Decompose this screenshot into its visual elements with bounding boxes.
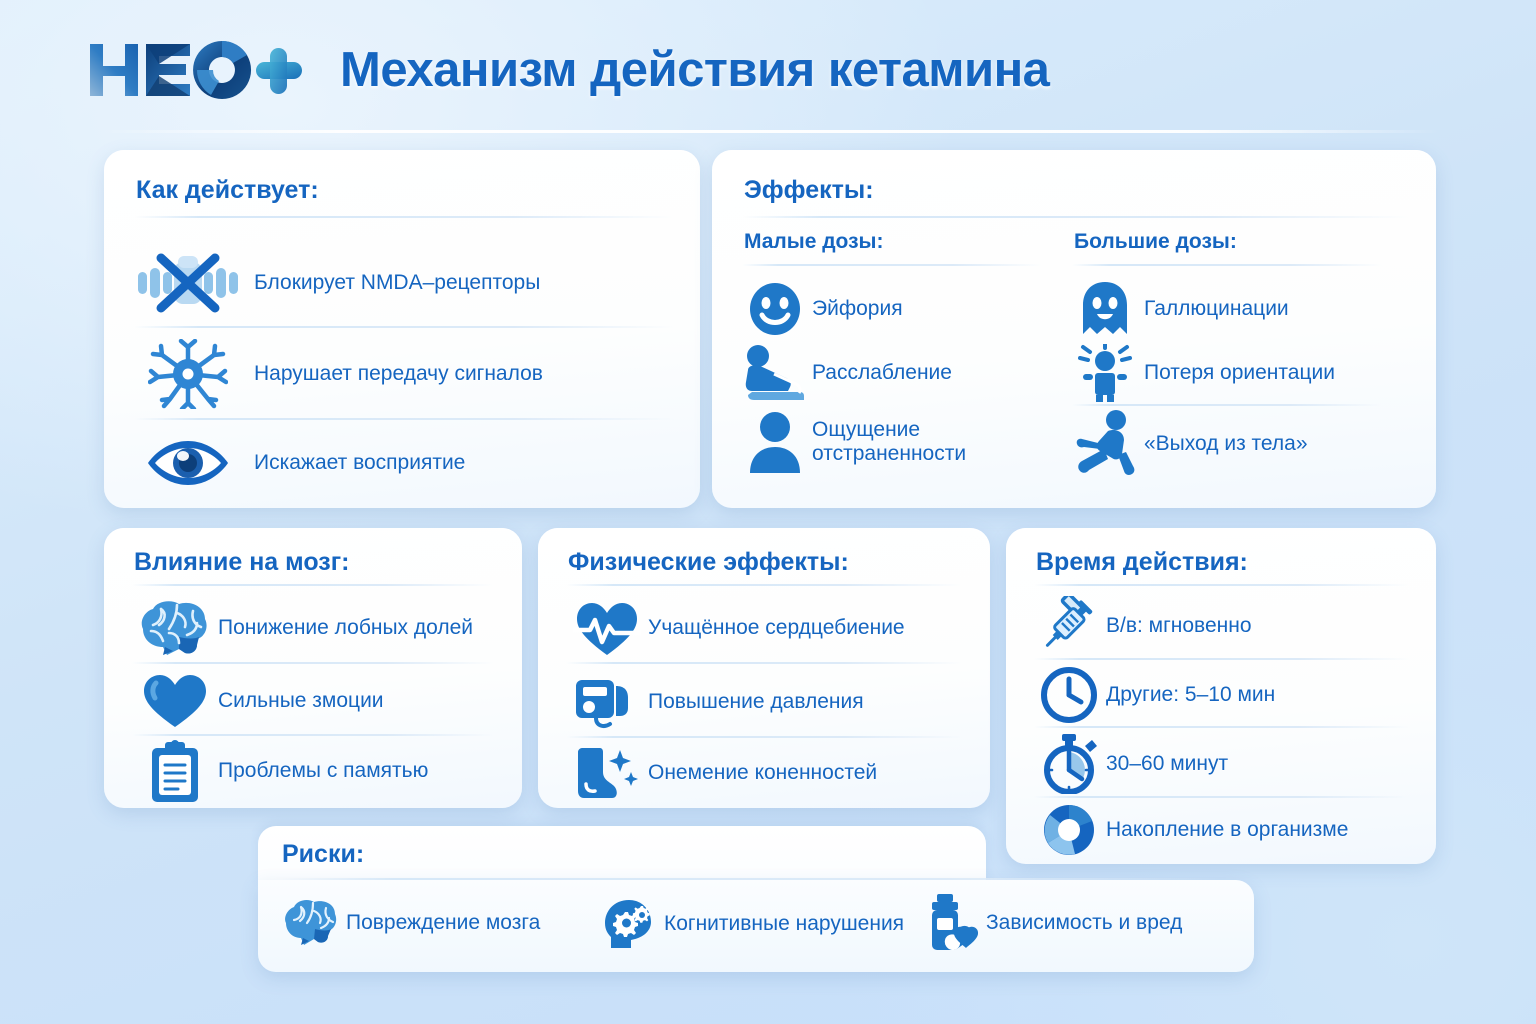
reclining-person-icon [744, 344, 806, 402]
list-item-label: Проблемы с памятью [218, 759, 428, 783]
card-brain-impact: Влияние на мозг: Понижение лобных долей [104, 528, 522, 808]
list-item-label: Другие: 5–10 мин [1106, 683, 1275, 707]
list-item[interactable]: «Выход из тела» [1074, 408, 1394, 480]
list-item-label: Потеря ориентации [1144, 361, 1335, 385]
page-header: Механизм действия кетамина [0, 0, 1536, 138]
list-item[interactable]: Ощущение отстраненности [744, 406, 1044, 478]
list-item-label: Ощущение отстраненности [812, 418, 966, 465]
list-item-label: 30–60 минут [1106, 752, 1228, 776]
list-item[interactable]: Галлюцинации [1074, 278, 1394, 340]
list-item[interactable]: Понижение лобных долей [134, 596, 504, 660]
list-item[interactable]: Расслабление [744, 342, 1044, 404]
list-item[interactable]: Сильные змоции [134, 670, 504, 732]
blood-pressure-monitor-icon [568, 674, 646, 730]
brain-impact-title: Влияние на мозг: [134, 548, 349, 577]
list-item-label: Блокирует NMDA–рецепторы [254, 271, 540, 295]
effects-divider [742, 216, 1410, 218]
high-dose-subtitle: Большие дозы: [1074, 230, 1237, 254]
list-item-label: Повышение давления [648, 690, 864, 714]
list-item-label: Галлюцинации [1144, 297, 1289, 321]
list-item-label: В/в: мгновенно [1106, 614, 1252, 638]
list-item[interactable]: Учащённое сердцебиение [568, 596, 968, 660]
card-how-it-works: Как действует: [104, 150, 700, 508]
clock-icon [1036, 667, 1102, 723]
list-item-label: Сильные змоции [218, 689, 384, 713]
card-physical-effects: Физические эффекты: Учащённое сердцебиен… [538, 528, 990, 808]
card-risks: Повреждение мозга Когнитивные нарушения [258, 880, 1254, 972]
heart-pulse-icon [568, 599, 646, 657]
head-gears-icon [598, 898, 660, 950]
smiley-face-icon [744, 282, 806, 336]
page-title: Механизм действия кетамина [340, 42, 1049, 98]
high-dose-divider [1072, 264, 1382, 266]
blocked-receptor-icon [136, 252, 240, 314]
how-it-works-divider [134, 216, 674, 218]
stopwatch-icon [1036, 734, 1102, 794]
floating-person-icon [1074, 409, 1136, 479]
infographic-page: Механизм действия кетамина Как действует… [0, 0, 1536, 1024]
row-divider [566, 662, 962, 664]
row-divider [132, 662, 494, 664]
brain-impact-divider [132, 584, 494, 586]
list-item[interactable]: 30–60 минут [1036, 732, 1416, 796]
brain-icon [134, 599, 216, 657]
neuron-icon [136, 339, 240, 409]
list-item-label: Учащённое сердцебиение [648, 616, 905, 640]
brain-damage-icon [280, 898, 342, 948]
risk-item-label: Зависимость и вред [986, 911, 1182, 935]
risk-item-label: Повреждение мозга [346, 911, 540, 935]
list-item-label: Онемение коненностей [648, 761, 877, 785]
list-item-label: Расслабление [812, 361, 952, 385]
risk-item-label: Когнитивные нарушения [664, 912, 904, 936]
list-item[interactable]: Накопление в организме [1036, 800, 1416, 860]
card-duration: Время действия: [1006, 528, 1436, 864]
list-item-label: Эйфория [812, 297, 903, 321]
neo-plus-logo [88, 38, 303, 106]
list-item[interactable]: Другие: 5–10 мин [1036, 664, 1416, 726]
heart-icon [134, 673, 216, 729]
risk-item[interactable]: Повреждение мозга [280, 898, 540, 948]
list-item[interactable]: Эйфория [744, 278, 1044, 340]
list-item[interactable]: Искажает восприятие [136, 428, 676, 498]
row-divider [566, 736, 962, 738]
how-it-works-title: Как действует: [136, 176, 319, 205]
duration-title: Время действия: [1036, 548, 1248, 577]
list-item[interactable]: В/в: мгновенно [1036, 594, 1416, 658]
card-effects: Эффекты: Малые дозы: Эйфория [712, 150, 1436, 508]
risk-item[interactable]: Зависимость и вред [920, 894, 1182, 952]
list-item-label: Понижение лобных долей [218, 616, 473, 640]
row-divider [134, 326, 674, 328]
row-divider [1034, 796, 1410, 798]
effects-title: Эффекты: [744, 176, 874, 205]
row-divider [132, 734, 494, 736]
eye-icon [136, 437, 240, 489]
physical-effects-divider [566, 584, 962, 586]
row-divider [134, 418, 674, 420]
list-item-label: «Выход из тела» [1144, 432, 1308, 456]
low-dose-divider [742, 264, 1042, 266]
low-dose-subtitle: Малые дозы: [744, 230, 883, 254]
risks-header-strip: Риски: [258, 826, 986, 884]
syringe-icon [1036, 596, 1102, 656]
list-item[interactable]: Нарушает передачу сигналов [136, 336, 676, 412]
row-divider [1034, 726, 1410, 728]
list-item[interactable]: Потеря ориентации [1074, 342, 1394, 404]
donut-chart-icon [1036, 803, 1102, 857]
ghost-icon [1074, 280, 1136, 338]
risk-item[interactable]: Когнитивные нарушения [598, 898, 904, 950]
pill-bottle-icon [920, 894, 982, 952]
risks-title: Риски: [282, 840, 364, 869]
numb-foot-icon [568, 744, 646, 802]
duration-divider [1034, 584, 1410, 586]
list-item[interactable]: Проблемы с памятью [134, 740, 504, 802]
list-item[interactable]: Блокирует NMDA–рецепторы [136, 244, 676, 322]
physical-effects-title: Физические эффекты: [568, 548, 849, 577]
list-item-label: Нарушает передачу сигналов [254, 362, 543, 386]
clipboard-icon [134, 740, 216, 802]
header-divider [96, 130, 1440, 133]
list-item[interactable]: Онемение коненностей [568, 742, 968, 804]
list-item-label: Искажает восприятие [254, 451, 465, 475]
person-bust-icon [744, 411, 806, 473]
list-item[interactable]: Повышение давления [568, 670, 968, 734]
row-divider [1034, 658, 1410, 660]
risks-divider [282, 878, 1222, 880]
row-divider [1072, 404, 1382, 406]
list-item-label: Накопление в организме [1106, 818, 1348, 842]
dizzy-person-icon [1074, 344, 1136, 402]
